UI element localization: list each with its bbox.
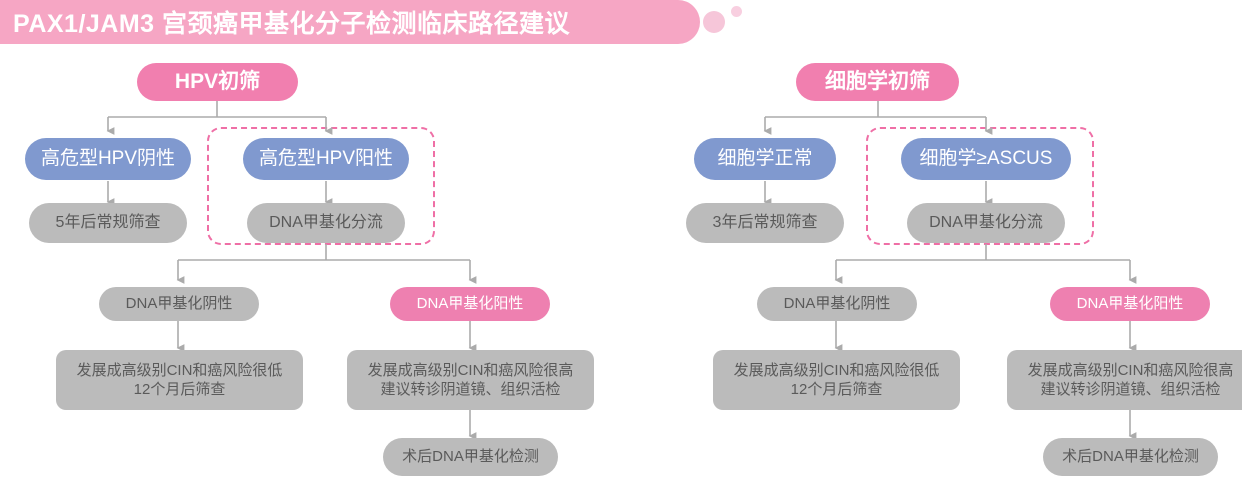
node-left-post-op-followup[interactable]: 术后DNA甲基化检测 (383, 438, 558, 476)
node-left-hpv-negative[interactable]: 高危型HPV阴性 (25, 138, 191, 180)
node-right-cytology-ascus[interactable]: 细胞学≥ASCUS (901, 138, 1071, 180)
node-left-hpv-positive[interactable]: 高危型HPV阳性 (243, 138, 409, 180)
node-left-methylation-negative[interactable]: DNA甲基化阴性 (99, 287, 259, 321)
node-right-low-risk-outcome[interactable]: 发展成高级别CIN和癌风险很低 12个月后筛查 (713, 350, 960, 410)
node-right-post-op-followup[interactable]: 术后DNA甲基化检测 (1043, 438, 1218, 476)
node-left-high-risk-outcome[interactable]: 发展成高级别CIN和癌风险很高 建议转诊阴道镜、组织活检 (347, 350, 594, 410)
node-left-low-risk-outcome[interactable]: 发展成高级别CIN和癌风险很低 12个月后筛查 (56, 350, 303, 410)
node-left-root[interactable]: HPV初筛 (137, 63, 298, 101)
node-right-cytology-normal[interactable]: 细胞学正常 (694, 138, 836, 180)
clinical-pathway-diagram: PAX1/JAM3 宫颈癌甲基化分子检测临床路径建议 (0, 0, 1242, 491)
node-left-methylation-triage[interactable]: DNA甲基化分流 (247, 203, 405, 243)
node-right-methylation-positive[interactable]: DNA甲基化阳性 (1050, 287, 1210, 321)
node-right-methylation-negative[interactable]: DNA甲基化阴性 (757, 287, 917, 321)
node-left-methylation-positive[interactable]: DNA甲基化阳性 (390, 287, 550, 321)
node-right-rescreen-3y[interactable]: 3年后常规筛查 (686, 203, 844, 243)
node-right-high-risk-outcome[interactable]: 发展成高级别CIN和癌风险很高 建议转诊阴道镜、组织活检 (1007, 350, 1242, 410)
node-right-methylation-triage[interactable]: DNA甲基化分流 (907, 203, 1065, 243)
node-left-rescreen-5y[interactable]: 5年后常规筛查 (29, 203, 187, 243)
node-right-root[interactable]: 细胞学初筛 (796, 63, 959, 101)
